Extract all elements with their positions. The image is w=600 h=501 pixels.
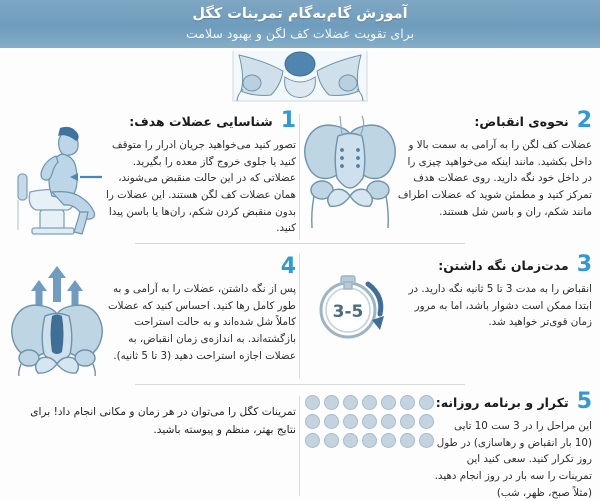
- divider-vertical-3: [299, 396, 300, 496]
- stopwatch-label: 3-5: [333, 302, 364, 322]
- page-title: آموزش گام‌به‌گام تمرینات کگل: [192, 7, 407, 23]
- repetition-dot: [381, 414, 396, 429]
- repetition-dot: [419, 414, 434, 429]
- hero-illustration: [0, 48, 600, 106]
- step-4-body: 4 پس از نگه داشتن، عضلات را به آرامی و ب…: [106, 254, 296, 376]
- step-3-body: 3 مدت‌زمان نگه داشتن: انقباض را به مدت 3…: [400, 254, 592, 354]
- step-cell-2: 2 نحوه‌ی انقباض: عضلات کف لگن را به آرام…: [302, 106, 600, 243]
- repetition-dot: [362, 433, 377, 448]
- page-subtitle: برای تقویت عضلات کف لگن و بهبود سلامت: [186, 26, 414, 41]
- step-2-art: [304, 110, 396, 232]
- step-4-header: 4: [106, 256, 296, 278]
- step-cell-4: 4 پس از نگه داشتن، عضلات را به آرامی و ب…: [0, 252, 298, 382]
- step-cell-3: 3 مدت‌زمان نگه داشتن: انقباض را به مدت 3…: [302, 252, 600, 382]
- repetition-dot: [324, 395, 339, 410]
- repetition-dot: [305, 433, 320, 448]
- step-4-art: [8, 254, 106, 376]
- step-1-title: شناسایی عضلات هدف:: [129, 114, 272, 129]
- step-4-number: 4: [281, 256, 296, 278]
- repetition-dot: [400, 433, 415, 448]
- step-5-header: 5 تکرار و برنامه روزانه:: [434, 391, 592, 413]
- step-2-number: 2: [577, 110, 592, 132]
- divider-vertical-2: [299, 254, 300, 378]
- repetition-dot: [362, 395, 377, 410]
- step-4: 4 پس از نگه داشتن، عضلات را به آرامی و ب…: [8, 254, 296, 376]
- step-1-text: تصور کنید می‌خواهید جریان ادرار را متوقف…: [104, 137, 296, 237]
- step-5-body: 5 تکرار و برنامه روزانه: این مراحل را در…: [434, 391, 592, 501]
- step-3-header: 3 مدت‌زمان نگه داشتن:: [400, 254, 592, 276]
- repetition-dot: [343, 395, 358, 410]
- infographic-page: آموزش گام‌به‌گام تمرینات کگل برای تقویت …: [0, 0, 600, 500]
- stopwatch-icon: 3-5: [304, 258, 400, 354]
- person-on-toilet-illustration: [8, 114, 104, 239]
- step-3-text: انقباض را به مدت 3 تا 5 ثانیه نگه دارید.…: [400, 281, 592, 331]
- divider-vertical-1: [299, 114, 300, 240]
- step-1-body: 1 شناسایی عضلات هدف: تصور کنید می‌خواهید…: [104, 110, 296, 239]
- closing-note-body: تمرینات کگل را می‌توان در هر زمان و مکان…: [8, 403, 296, 439]
- repetition-dot: [419, 395, 434, 410]
- divider-horizontal-2: [135, 384, 465, 385]
- step-4-text: پس از نگه داشتن، عضلات را به آرامی و به …: [106, 281, 296, 364]
- repetition-dot: [362, 414, 377, 429]
- step-3-art: 3-5: [304, 254, 400, 354]
- step-1: 1 شناسایی عضلات هدف: تصور کنید می‌خواهید…: [8, 110, 296, 239]
- step-2-title: نحوه‌ی انقباض:: [474, 114, 568, 129]
- repetition-dot: [343, 433, 358, 448]
- repetition-dot: [305, 414, 320, 429]
- pelvis-anatomy-illustration: [215, 49, 385, 105]
- step-5-text: این مراحل را در 3 ست 10 تایی (10 بار انق…: [434, 418, 592, 501]
- repetition-dots-grid: [304, 395, 434, 449]
- step-5-title: تکرار و برنامه روزانه:: [436, 395, 569, 410]
- step-3: 3 مدت‌زمان نگه داشتن: انقباض را به مدت 3…: [304, 254, 592, 354]
- header-banner: آموزش گام‌به‌گام تمرینات کگل برای تقویت …: [0, 0, 600, 48]
- step-1-number: 1: [281, 110, 296, 132]
- steps-grid: 2 نحوه‌ی انقباض: عضلات کف لگن را به آرام…: [0, 106, 600, 500]
- step-2-body: 2 نحوه‌ی انقباض: عضلات کف لگن را به آرام…: [396, 110, 592, 232]
- step-2-header: 2 نحوه‌ی انقباض:: [396, 110, 592, 132]
- repetition-dot: [400, 395, 415, 410]
- step-5-art: [304, 391, 434, 501]
- step-2: 2 نحوه‌ی انقباض: عضلات کف لگن را به آرام…: [304, 110, 592, 232]
- step-5: 5 تکرار و برنامه روزانه: این مراحل را در…: [304, 391, 592, 501]
- step-3-number: 3: [577, 254, 592, 276]
- closing-note: تمرینات کگل را می‌توان در هر زمان و مکان…: [8, 403, 296, 439]
- repetition-dot: [400, 414, 415, 429]
- repetition-dot: [381, 395, 396, 410]
- closing-note-text: تمرینات کگل را می‌توان در هر زمان و مکان…: [8, 403, 296, 439]
- pelvis-lift-arrows-illustration: [8, 258, 106, 376]
- repetition-dot: [381, 433, 396, 448]
- repetition-dot: [305, 395, 320, 410]
- pelvis-bone-illustration: [304, 114, 396, 232]
- step-3-title: مدت‌زمان نگه داشتن:: [438, 258, 568, 273]
- closing-note-cell: تمرینات کگل را می‌توان در هر زمان و مکان…: [0, 391, 298, 500]
- step-5-number: 5: [577, 391, 592, 413]
- step-2-text: عضلات کف لگن را به آرامی به سمت بالا و د…: [396, 137, 592, 220]
- repetition-dot: [324, 433, 339, 448]
- divider-horizontal-1: [135, 243, 465, 244]
- repetition-dot: [324, 414, 339, 429]
- repetition-dot: [343, 414, 358, 429]
- step-1-header: 1 شناسایی عضلات هدف:: [104, 110, 296, 132]
- step-cell-5: 5 تکرار و برنامه روزانه: این مراحل را در…: [302, 391, 600, 500]
- repetition-dot: [419, 433, 434, 448]
- step-cell-1: 1 شناسایی عضلات هدف: تصور کنید می‌خواهید…: [0, 106, 298, 243]
- step-1-art: [8, 110, 104, 239]
